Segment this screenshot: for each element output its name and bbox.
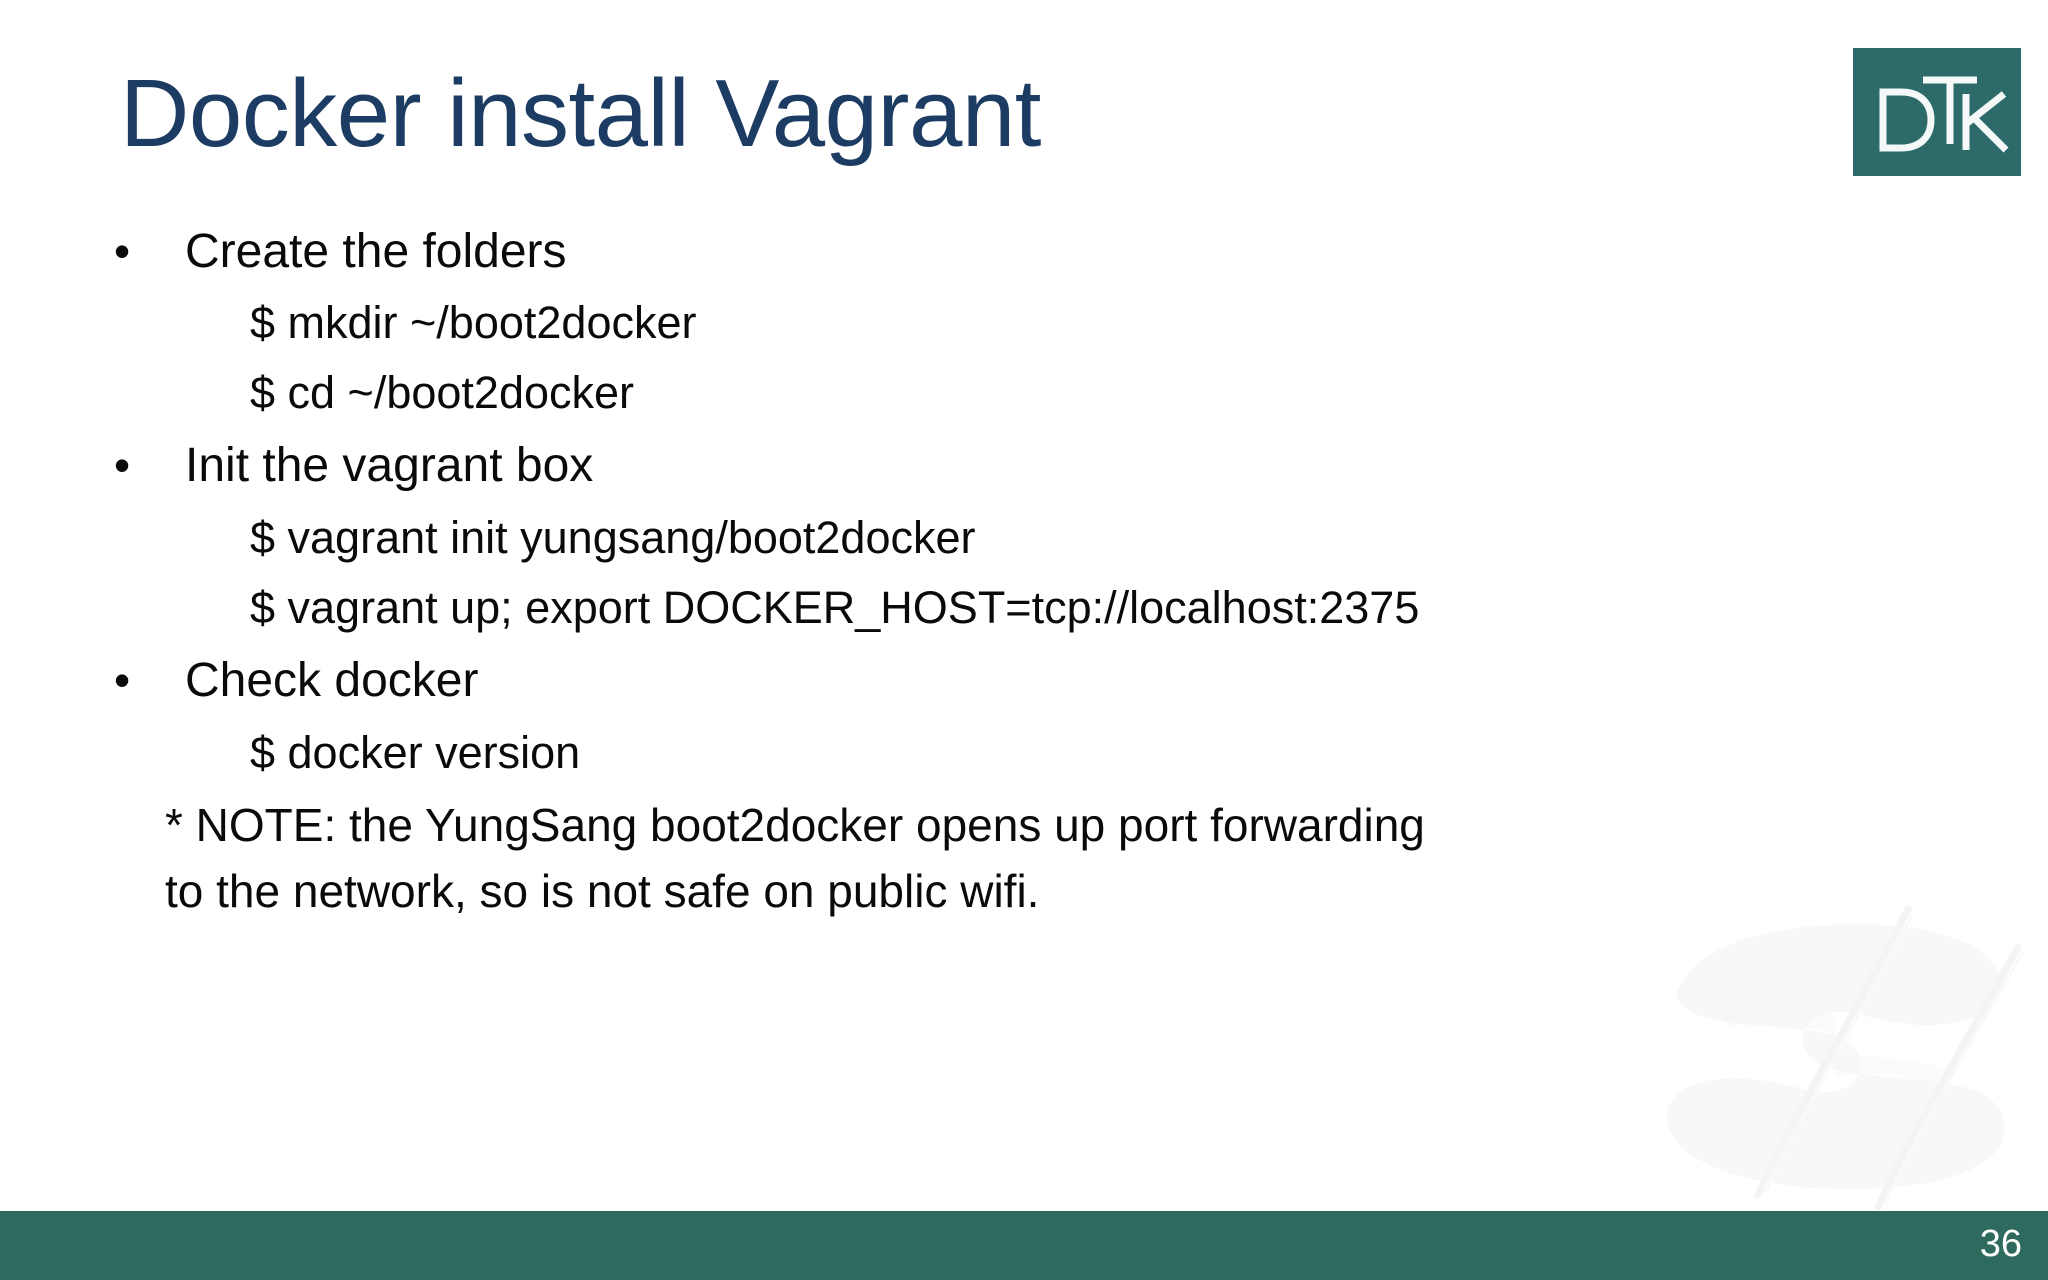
slide-canvas: Docker install Vagrant • Create the fold…: [0, 0, 2048, 1280]
bullet-marker-icon: •: [100, 442, 185, 488]
command-line: $ cd ~/boot2docker: [250, 370, 634, 415]
bullet-marker-icon: •: [100, 657, 185, 703]
bullet-item-create-folders: • Create the folders: [100, 228, 2000, 276]
logo-background: [1853, 48, 2021, 176]
slide-number: 36: [1980, 1225, 2022, 1263]
page-title: Docker install Vagrant: [120, 62, 1800, 166]
bullet-label: Create the folders: [185, 228, 567, 276]
command-line: $ vagrant init yungsang/boot2docker: [250, 515, 976, 560]
bullet-label: Check docker: [185, 657, 478, 705]
background-watermark-graphic: [1640, 895, 2040, 1215]
bullet-item-init-vagrant-box: • Init the vagrant box: [100, 442, 2000, 490]
note-text-line: to the network, so is not safe on public…: [165, 868, 1039, 914]
bullet-item-check-docker: • Check docker: [100, 657, 2000, 705]
bullet-label: Init the vagrant box: [185, 442, 593, 490]
command-line: $ vagrant up; export DOCKER_HOST=tcp://l…: [250, 585, 1419, 630]
footer-bar: 36: [0, 1211, 2048, 1280]
note-text-line: * NOTE: the YungSang boot2docker opens u…: [165, 802, 1425, 848]
command-line: $ mkdir ~/boot2docker: [250, 300, 696, 345]
dtu-logo: [1853, 48, 2021, 176]
command-line: $ docker version: [250, 730, 580, 775]
bullet-marker-icon: •: [100, 228, 185, 274]
